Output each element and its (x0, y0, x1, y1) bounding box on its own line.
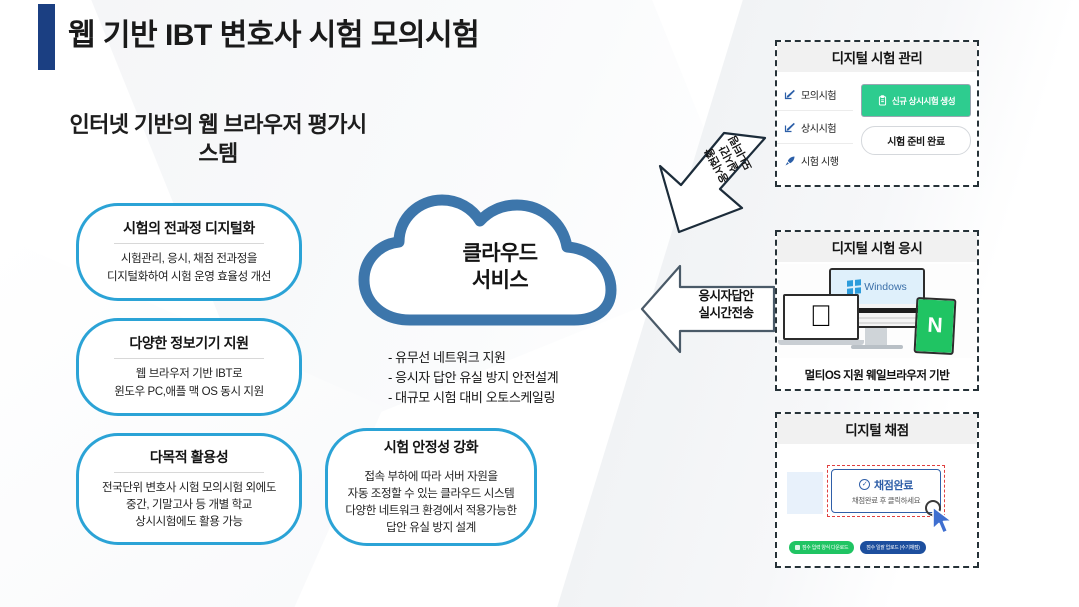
grading-button-row: 점수 입력 양식 다운로드 점수 일괄 업로드 (수기채점) (789, 541, 926, 554)
panel-body: 모의시험 상시시험 시험 시행 (777, 72, 977, 185)
naver-logo-icon: N (916, 299, 955, 353)
cloud-label: 클라우드 서비스 (352, 240, 648, 295)
create-regular-exam-label: 신규 상시시험 생성 (892, 95, 955, 107)
grading-card-title-row: ✓ 채점완료 (859, 477, 913, 493)
check-circle-icon: ✓ (859, 479, 870, 490)
menu-item-label: 모의시험 (801, 87, 836, 102)
monitor-stand (865, 328, 887, 346)
menu-item-label: 시험 시행 (801, 153, 839, 168)
exam-ready-button[interactable]: 시험 준비 완료 (861, 126, 971, 155)
feature-pill-device-support: 다양한 정보기기 지원 웹 브라우저 기반 IBT로 윈도우 PC,애플 맥 O… (76, 318, 302, 416)
panel-heading: 디지털 시험 관리 (777, 42, 977, 72)
grading-card-title: 채점완료 (874, 477, 913, 493)
feature-pill-stability: 시험 안정성 강화 접속 부하에 따라 서버 자원을 자동 조정할 수 있는 클… (325, 428, 537, 546)
bulk-upload-score-label: 점수 일괄 업로드 (수기채점) (866, 544, 919, 551)
cloud-graphic: 클라우드 서비스 (352, 192, 648, 342)
bulk-upload-score-button[interactable]: 점수 일괄 업로드 (수기채점) (860, 541, 925, 554)
feature-pill-body: 시험관리, 응시, 채점 전과정을 디지털화하여 시험 운영 효율성 개선 (107, 251, 271, 286)
menu-item-regular-exam[interactable]: 상시시험 (777, 111, 853, 144)
panel-heading: 디지털 채점 (777, 414, 977, 444)
feature-pill-body: 접속 부하에 따라 서버 자원을 자동 조정할 수 있는 클라우드 시스템 다양… (345, 469, 516, 538)
arrow-answer-transfer-label: 응시자답안 실시간전송 (680, 288, 772, 321)
panel-heading: 디지털 시험 응시 (777, 232, 977, 262)
exam-taking-caption: 멀티OS 지원 웨일브라우저 기반 (777, 367, 977, 383)
windows-label: Windows (864, 281, 907, 293)
clipboard-icon (877, 95, 888, 106)
feature-pill-title: 다양한 정보기기 지원 (129, 333, 248, 358)
grading-card-subtitle: 채점완료 후 클릭하세요 (852, 495, 920, 506)
header-accent-bar (38, 4, 55, 70)
windows-logo-icon (847, 279, 861, 294)
grading-sidebar (787, 472, 823, 514)
divider (114, 472, 264, 473)
feature-pill-body: 웹 브라우저 기반 IBT로 윈도우 PC,애플 맥 OS 동시 지원 (114, 366, 264, 401)
panel-body: ✓ 채점완료 채점완료 후 클릭하세요 점수 입력 양식 다운로드 점수 일괄 … (777, 444, 977, 566)
feature-pill-title: 다목적 활용성 (150, 447, 228, 472)
menu-item-mock-exam[interactable]: 모의시험 (777, 78, 853, 111)
cloud-bullet-list: - 유무선 네트워크 지원 - 응시자 답안 유실 방지 안전설계 - 대규모 … (388, 348, 558, 407)
arrow-monitoring: 응시현황 실시간 모니터링 (624, 128, 776, 240)
feature-pill-digitalization: 시험의 전과정 디지털화 시험관리, 응시, 채점 전과정을 디지털화하여 시험… (76, 203, 302, 301)
feature-pill-multipurpose: 다목적 활용성 전국단위 변호사 시험 모의시험 외에도 중간, 기말고사 등 … (76, 433, 302, 545)
panel-digital-grading: 디지털 채점 ✓ 채점완료 채점완료 후 클릭하세요 점수 입력 양식 다운로드 (775, 412, 979, 568)
subtitle: 인터넷 기반의 웹 브라우저 평가시스템 (68, 110, 368, 168)
rocket-icon (784, 155, 796, 167)
panel-exam-management: 디지털 시험 관리 모의시험 상시시험 (775, 40, 979, 187)
feature-pill-title: 시험의 전과정 디지털화 (123, 218, 255, 243)
pencil-square-icon (784, 88, 796, 100)
mouse-cursor-icon (925, 500, 953, 532)
management-menu: 모의시험 상시시험 시험 시행 (777, 72, 853, 185)
panel-exam-taking: 디지털 시험 응시 Windows  (775, 230, 979, 391)
download-icon (795, 545, 800, 550)
panel-body: Windows  N 멀티OS 지원 웨일브라우저 기반 (777, 262, 977, 389)
download-score-form-label: 점수 입력 양식 다운로드 (802, 544, 848, 551)
apple-logo-icon:  (783, 294, 859, 340)
device-illustration: Windows  N (777, 264, 977, 358)
divider (114, 243, 264, 244)
arrow-answer-transfer: 응시자답안 실시간전송 (640, 262, 780, 356)
laptop-base (778, 340, 864, 345)
feature-pill-title: 시험 안정성 강화 (384, 437, 478, 462)
pencil-square-icon (784, 121, 796, 133)
apple-laptop:  (783, 294, 861, 346)
page-title: 웹 기반 IBT 변호사 시험 모의시험 (68, 10, 479, 54)
grading-screenshot: ✓ 채점완료 채점완료 후 클릭하세요 점수 입력 양식 다운로드 점수 일괄 … (783, 452, 971, 560)
feature-pill-body: 전국단위 변호사 시험 모의시험 외에도 중간, 기말고사 등 개별 학교 상시… (102, 480, 276, 532)
download-score-form-button[interactable]: 점수 입력 양식 다운로드 (789, 541, 854, 554)
naver-tablet: N (914, 297, 957, 355)
create-regular-exam-button[interactable]: 신규 상시시험 생성 (861, 84, 971, 117)
menu-item-exam-execution[interactable]: 시험 시행 (777, 144, 853, 177)
exam-ready-label: 시험 준비 완료 (887, 133, 945, 148)
divider (114, 358, 264, 359)
menu-item-label: 상시시험 (801, 120, 836, 135)
